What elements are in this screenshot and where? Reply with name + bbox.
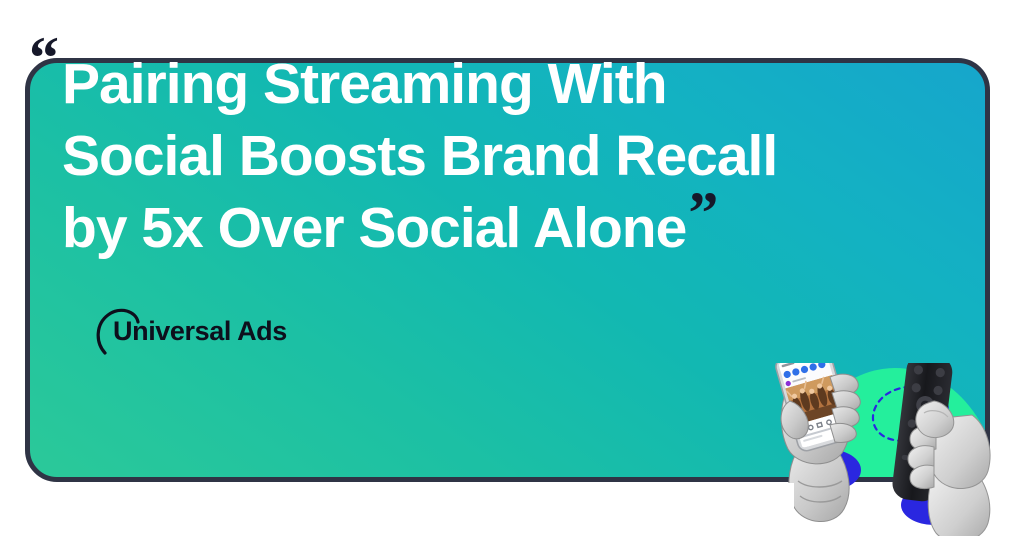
headline-line-2-text: Social Boosts Brand Recall xyxy=(62,124,777,188)
universal-ads-logo[interactable]: Universal Ads xyxy=(95,308,287,354)
headline-line-1-text: Pairing Streaming With xyxy=(62,52,667,116)
poster-canvas: “Pairing Streaming With Social Boosts Br… xyxy=(0,0,1024,536)
headline-line-3-text: by 5x Over Social Alone xyxy=(62,196,686,260)
headline-line-3: by 5x Over Social Alone” xyxy=(62,192,922,264)
logo-wordmark: Universal Ads xyxy=(113,316,287,347)
close-quote-mark: ” xyxy=(688,180,717,246)
streaming-social-illustration xyxy=(760,363,1024,536)
quote-headline: “Pairing Streaming With Social Boosts Br… xyxy=(62,48,922,264)
hand-holding-tv-remote xyxy=(872,363,1012,536)
headline-line-2: Social Boosts Brand Recall xyxy=(62,120,922,192)
illustration-edge-mask xyxy=(760,483,794,536)
headline-line-1: “Pairing Streaming With xyxy=(62,48,922,120)
